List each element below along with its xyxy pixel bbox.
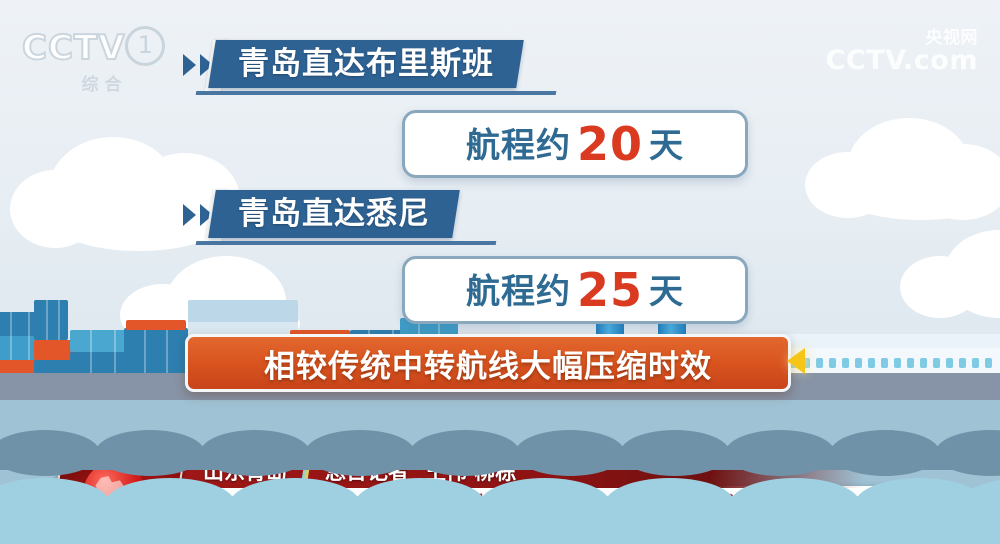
gold-arrow-icon <box>787 348 805 374</box>
cctv-channel-number: 1 <box>125 26 165 66</box>
route-banner-1: 青岛直达布里斯班 <box>208 40 524 88</box>
watermark-main-label: CCTV.com <box>826 45 978 76</box>
sea-wave-front <box>0 478 1000 544</box>
route-banner-2: 青岛直达悉尼 <box>208 190 460 238</box>
banner-underline-1 <box>196 91 557 95</box>
broadcast-screenshot: CCTV1 综合 央视网 CCTV.com <box>0 0 1000 544</box>
cctv-channel-sub: 综合 <box>22 70 187 95</box>
sea-wave-mid <box>0 430 1000 470</box>
banner-underline-2 <box>196 241 497 245</box>
duration-pill-2-text: 航程约25天 <box>466 263 684 317</box>
route-banner-1-label: 青岛直达布里斯班 <box>212 40 520 88</box>
highlight-banner: 相较传统中转航线大幅压缩时效 <box>185 334 791 392</box>
duration-pill-2: 航程约25天 <box>402 256 748 324</box>
duration-pill-1-text: 航程约20天 <box>466 117 684 171</box>
duration-pill-1: 航程约20天 <box>402 110 748 178</box>
cctv-wordmark: CCTV <box>22 28 125 68</box>
cctv-com-watermark: 央视网 CCTV.com <box>826 30 978 74</box>
route-banner-2-label: 青岛直达悉尼 <box>212 190 456 238</box>
cctv1-logo: CCTV1 综合 <box>22 26 187 88</box>
highlight-banner-label: 相较传统中转航线大幅压缩时效 <box>264 341 712 386</box>
